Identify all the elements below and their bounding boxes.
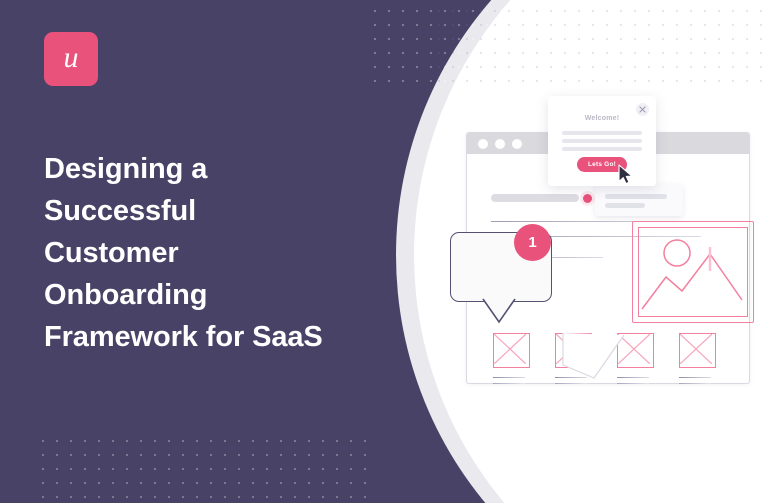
welcome-modal: Welcome! Lets Go! xyxy=(548,96,656,186)
dot-grid-bottom xyxy=(36,434,376,503)
thumb-placeholder xyxy=(679,333,716,368)
thumb-placeholder xyxy=(493,333,530,368)
traffic-light-dot xyxy=(512,139,522,149)
thumb-caption-line xyxy=(555,383,587,384)
headline-line-5: Framework for SaaS xyxy=(44,316,374,358)
thumb-caption-line xyxy=(493,383,525,384)
image-placeholder-graphic xyxy=(638,227,748,317)
modal-title: Welcome! xyxy=(548,115,656,122)
thumb-caption-line xyxy=(679,377,711,378)
pink-hotspot-dot[interactable] xyxy=(583,194,592,203)
headline-line-1: Designing a xyxy=(44,148,374,190)
userpilot-logo[interactable]: u xyxy=(44,32,98,86)
headline-line-4: Onboarding xyxy=(44,274,374,316)
thumb-caption-line xyxy=(493,377,525,378)
window-bubble-tail xyxy=(562,333,632,381)
onboarding-illustration: 1 Welcome! Lets Go! xyxy=(440,84,740,414)
mouse-pointer-icon xyxy=(618,164,634,190)
modal-body-line xyxy=(562,139,642,143)
content-bar xyxy=(491,194,579,202)
modal-body-line xyxy=(562,147,642,151)
hero-banner: u Designing a Successful Customer Onboar… xyxy=(0,0,768,503)
speech-bubble-tail xyxy=(482,298,516,329)
thumb-caption-line xyxy=(679,383,711,384)
tooltip-line xyxy=(605,194,667,199)
modal-body-line xyxy=(562,131,642,135)
headline-line-3: Customer xyxy=(44,232,374,274)
headline-line-2: Successful xyxy=(44,190,374,232)
placeholder-cross-icon xyxy=(494,334,526,364)
image-placeholder-icon xyxy=(632,221,754,323)
traffic-light-dot xyxy=(478,139,488,149)
thumb-caption-line xyxy=(617,383,649,384)
close-x-glyph xyxy=(639,106,646,113)
placeholder-cross-icon xyxy=(680,334,712,364)
traffic-light-dot xyxy=(495,139,505,149)
logo-glyph: u xyxy=(64,43,79,73)
page-title: Designing a Successful Customer Onboardi… xyxy=(44,148,374,358)
tooltip-line xyxy=(605,203,645,208)
tooltip-card xyxy=(595,184,683,216)
step-badge[interactable]: 1 xyxy=(514,224,551,261)
